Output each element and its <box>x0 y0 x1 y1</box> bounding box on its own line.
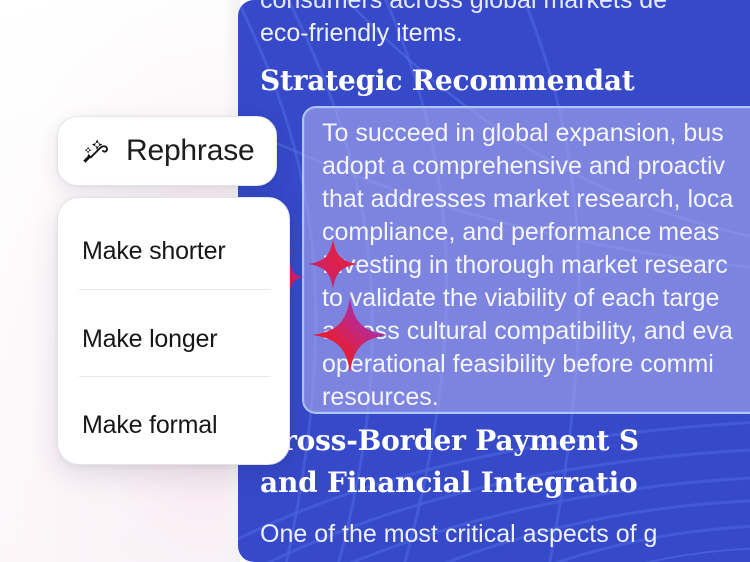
magic-wand-sparkles-icon <box>78 134 112 168</box>
selected-line: to validate the viability of each targe <box>322 282 750 315</box>
screenshot-root: consumers across global markets de eco-f… <box>0 0 750 562</box>
selected-line: To succeed in global expansion, bus <box>322 117 750 150</box>
menu-item-label: Make formal <box>82 411 217 440</box>
selected-line: operational feasibility before commi <box>322 348 750 381</box>
selected-line: assess cultural compatibility, and eva <box>322 315 750 348</box>
text-selection-highlight[interactable]: To succeed in global expansion, bus adop… <box>302 106 750 414</box>
rephrase-button-label: Rephrase <box>126 134 254 168</box>
document-cut-line: consumers across global markets de <box>260 0 750 17</box>
heading-cross-border-line-2: and Financial Integratio <box>260 462 750 503</box>
selected-line: compliance, and performance meas <box>322 216 750 249</box>
heading-strategic-recommendations: Strategic Recommendat <box>260 60 750 101</box>
rephrase-options-menu: Make shorter Make longer Make formal <box>57 197 290 465</box>
selected-line: resources. <box>322 381 750 414</box>
menu-item-make-longer[interactable]: Make longer <box>58 296 290 382</box>
rephrase-button[interactable]: Rephrase <box>57 116 277 186</box>
menu-item-make-formal[interactable]: Make formal <box>58 382 290 465</box>
heading-cross-border-line-1: Cross-Border Payment S <box>260 420 750 461</box>
menu-item-label: Make shorter <box>82 237 226 266</box>
document-intro-line: eco-friendly items. <box>260 17 750 50</box>
menu-divider <box>79 376 271 377</box>
selected-paragraph: To succeed in global expansion, bus adop… <box>322 117 750 414</box>
selected-line: Investing in thorough market researc <box>322 249 750 282</box>
menu-item-make-shorter[interactable]: Make shorter <box>58 208 290 294</box>
document-closing-line: One of the most critical aspects of g <box>260 518 750 551</box>
menu-item-label: Make longer <box>82 325 217 354</box>
selected-line: adopt a comprehensive and proactiv <box>322 150 750 183</box>
menu-divider <box>79 289 271 290</box>
selected-line: that addresses market research, loca <box>322 183 750 216</box>
